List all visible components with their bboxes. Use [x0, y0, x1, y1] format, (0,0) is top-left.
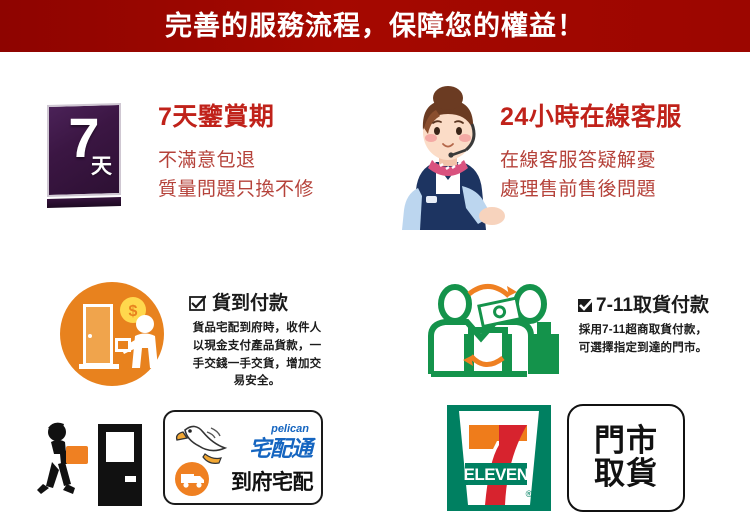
svg-text:$: $: [129, 303, 138, 320]
payment-title: 貨到付款: [189, 294, 325, 313]
store-badge-line1: 門市: [594, 425, 658, 458]
feature-heading: 7天鑒賞期: [158, 104, 314, 132]
payment-title: 7-11取貨付款: [577, 296, 709, 315]
pelican-brand-name: 宅配通: [249, 438, 312, 460]
seven-day-badge: 7 天: [45, 104, 123, 208]
header-banner: 完善的服務流程，保障您的權益！: [0, 0, 750, 52]
store-badge-line2: 取貨: [594, 458, 658, 491]
truck-circle-icon: [175, 462, 209, 496]
seven-eleven-wordmark: ELEVEN: [463, 465, 528, 484]
feature-line: 不滿意包退: [158, 146, 314, 175]
pelican-logo: pelican 宅配通 到府宅配: [163, 410, 323, 505]
badge-shadow: [47, 197, 121, 208]
svg-text:®: ®: [526, 489, 533, 499]
feature-online-service: 24小時在線客服 在線客服答疑解憂 處理售前售後問題: [500, 104, 682, 204]
counter-exchange-money-icon: [425, 278, 565, 395]
delivery-person-door-icon: [33, 418, 148, 513]
pelican-english-text: pelican: [271, 424, 309, 435]
checkbox-check-icon: [577, 297, 594, 314]
seven-eleven-logo: ELEVEN ®: [447, 405, 551, 511]
payment-body: 採用7-11超商取貨付款，可選擇指定到達的門市。: [577, 322, 709, 358]
page-title: 完善的服務流程，保障您的權益！: [165, 13, 585, 40]
pelican-subtitle: 到府宅配: [231, 472, 313, 493]
door-delivery-coin-icon: $: [55, 278, 173, 395]
payment-seven-eleven-pickup: 7-11取貨付款 採用7-11超商取貨付款，可選擇指定到達的門市。: [425, 278, 709, 395]
payment-cash-on-delivery: $ 貨到付款 貨品宅配到府時，收件人以現金支付產品貨: [55, 278, 325, 395]
badge-unit: 天: [91, 156, 112, 177]
store-pickup-badge: 門市 取貨: [567, 404, 685, 512]
promo-page: 完善的服務流程，保障您的權益！ 7 天 7天鑒賞期 不滿意包退 質量問題只換不修: [0, 0, 750, 526]
payment-body: 貨品宅配到府時，收件人以現金支付產品貨款，一手交錢一手交貨，增加交易安全。: [189, 320, 325, 391]
customer-service-operator-illustration: [388, 84, 508, 230]
payment-title-text: 7-11取貨付款: [596, 296, 709, 315]
feature-heading: 24小時在線客服: [500, 104, 682, 132]
pelican-bird-icon: [173, 420, 233, 466]
feature-seven-day-trial: 7天鑒賞期 不滿意包退 質量問題只換不修: [158, 104, 314, 204]
feature-line: 在線客服答疑解憂: [500, 146, 682, 175]
payment-title-text: 貨到付款: [212, 294, 288, 313]
checkbox-check-icon: [189, 295, 206, 312]
feature-line: 處理售前售後問題: [500, 175, 682, 204]
feature-line: 質量問題只換不修: [158, 175, 314, 204]
